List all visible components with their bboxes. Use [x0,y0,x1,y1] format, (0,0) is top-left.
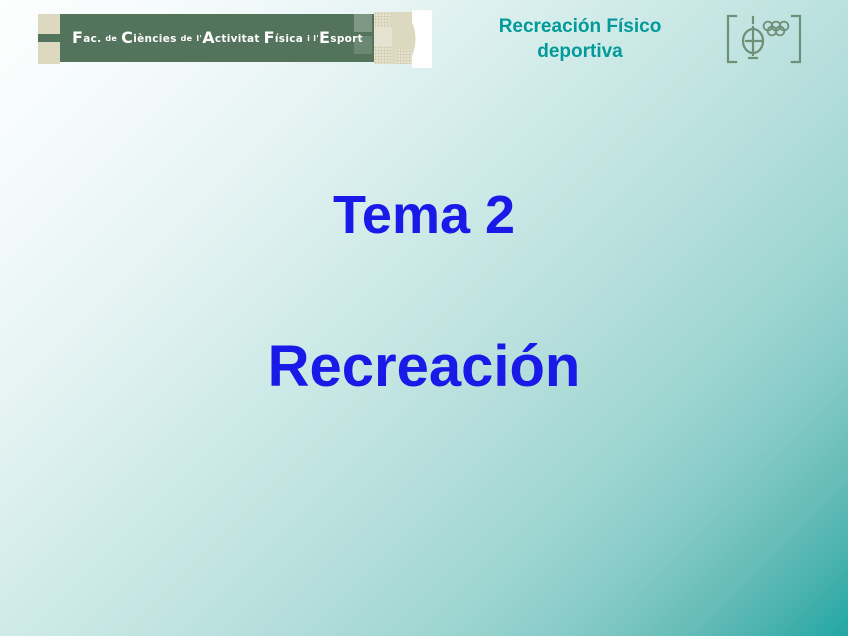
slide-root: Fac. de Ciències de l'Activitat Física i… [0,0,848,636]
banner-text-sport: sport [330,33,363,45]
course-title-line-1: Recreación Físico [455,14,705,39]
banner-text-iencies: iències [133,33,177,45]
banner-block-beige-left-bottom [38,42,60,64]
banner-letter-c: C [121,28,133,47]
banner-letter-a: A [202,28,215,47]
banner-letter-e: E [319,28,330,47]
olympic-rings-figure-mark [722,8,806,70]
banner-block-dotted-r3 [396,50,412,64]
banner-text-isica: ísica [275,33,303,45]
faculty-banner-logo: Fac. de Ciències de l'Activitat Física i… [38,10,426,74]
banner-text-il: i l' [307,34,319,43]
olympic-rings-icon [764,22,789,36]
banner-text-de2: de [181,34,193,43]
banner-block-green-left-mid [38,34,60,42]
banner-right-curve [412,10,432,68]
bracket-left-icon [728,16,736,62]
banner-text-ac: ac. [83,33,101,45]
banner-letter-f1: F [72,28,83,47]
topic-number-heading: Tema 2 [0,186,848,244]
course-title-line-2: deportiva [455,39,705,64]
course-title: Recreación Físico deportiva [455,14,705,64]
banner-text-ctivitat: ctivitat [215,33,260,45]
bracket-right-icon [792,16,800,62]
banner-block-dotted-r1 [374,12,390,28]
banner-wordmark: Fac. de Ciències de l'Activitat Física i… [72,28,392,50]
banner-block-beige-left-top [38,14,60,34]
banner-letter-f2: F [264,28,275,47]
slide-header: Fac. de Ciències de l'Activitat Física i… [0,0,848,84]
banner-text-de1: de [105,34,117,43]
topic-title-heading: Recreación [0,334,848,400]
